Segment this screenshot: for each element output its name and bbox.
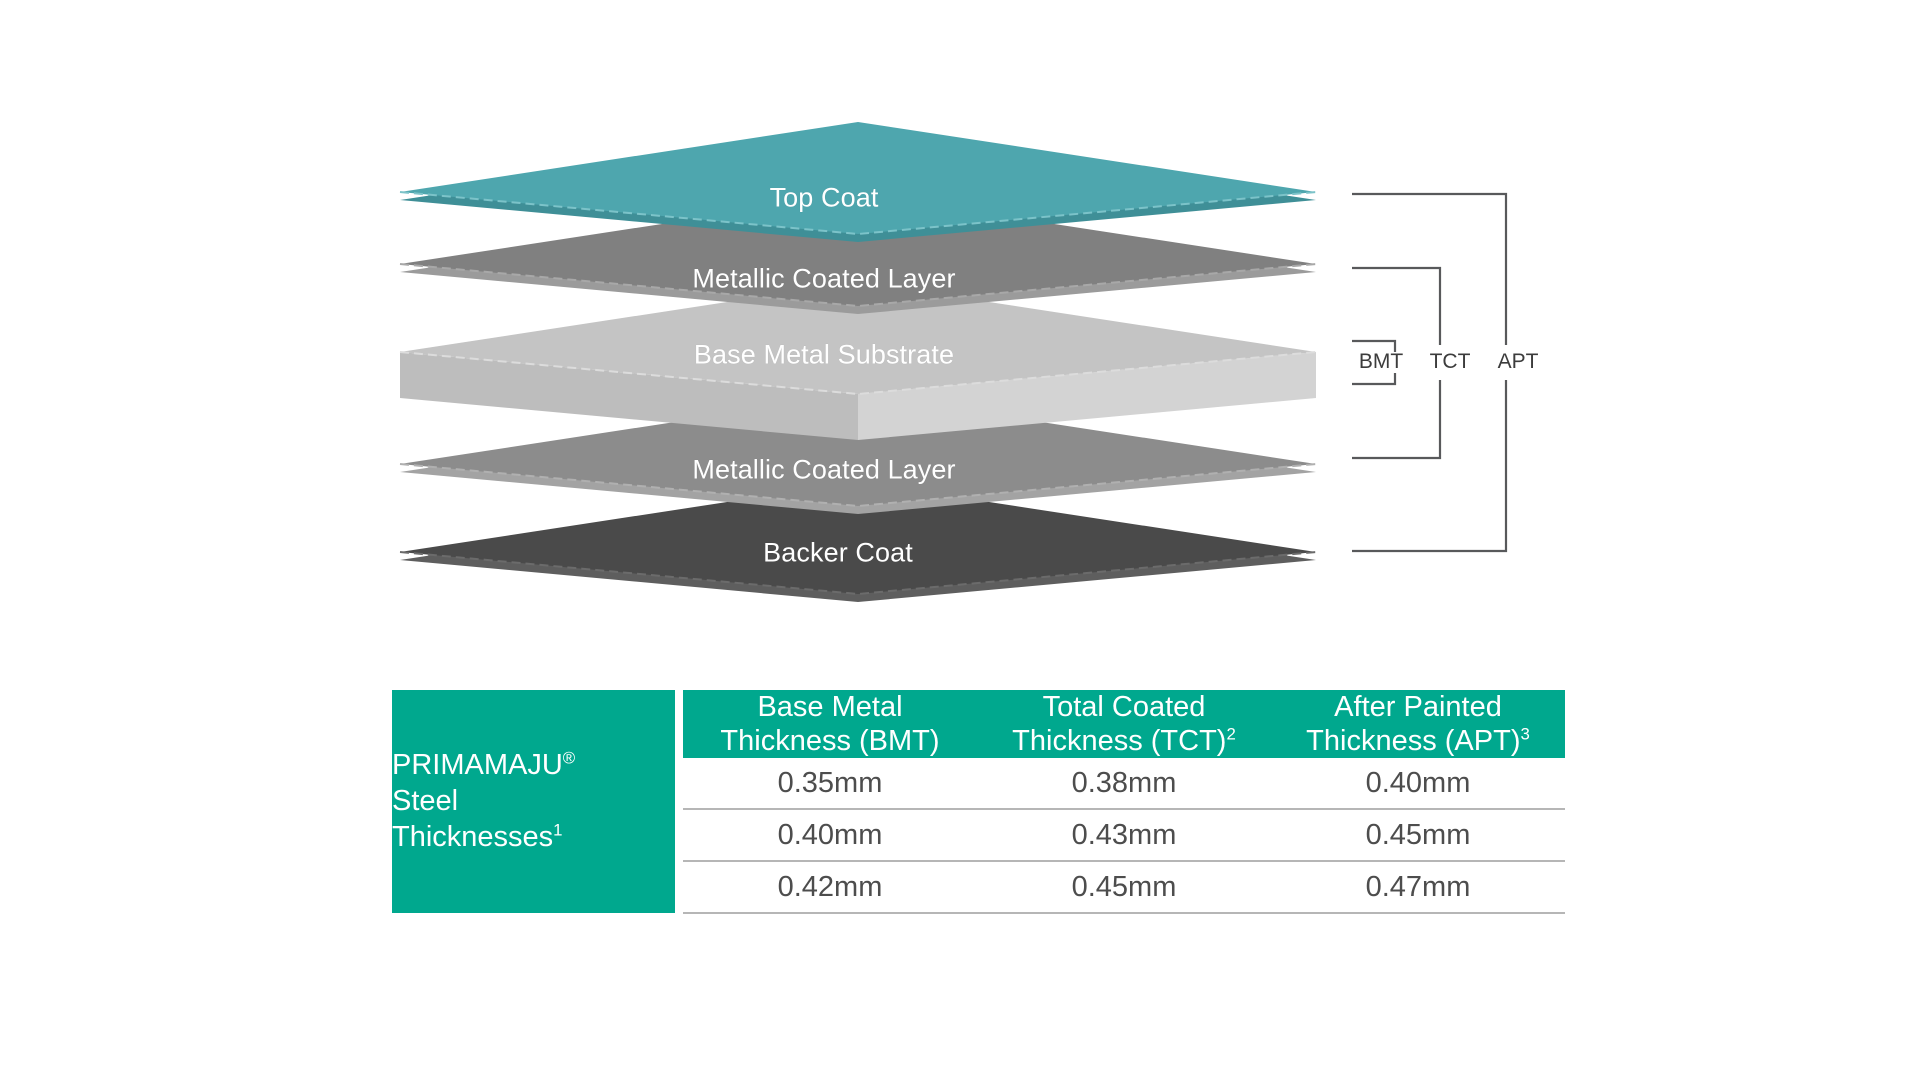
bracket-label-tct: TCT — [1430, 350, 1471, 374]
column-header-apt: After Painted Thickness (APT)3 — [1271, 690, 1565, 758]
cell-apt: 0.47mm — [1271, 861, 1565, 913]
brand-name: PRIMAMAJU — [392, 749, 563, 781]
diagram-page: Top Coat Metallic Coated Layer Base Meta… — [0, 0, 1920, 1080]
column-header-bmt: Base Metal Thickness (BMT) — [683, 690, 977, 758]
table-gutter — [675, 809, 683, 861]
table-gutter — [675, 690, 683, 758]
bracket-label-bmt: BMT — [1359, 350, 1403, 374]
cell-bmt: 0.42mm — [683, 861, 977, 913]
column-header-apt-line2: Thickness (APT) — [1306, 725, 1520, 757]
brand-line2: Steel — [392, 785, 458, 817]
cell-bmt: 0.40mm — [683, 809, 977, 861]
column-header-tct-line1: Total Coated — [1043, 691, 1206, 723]
table-header-row: PRIMAMAJU® Steel Thicknesses1 Base Metal… — [392, 690, 1565, 758]
brand-line3-footnote: 1 — [553, 820, 562, 839]
column-header-tct: Total Coated Thickness (TCT)2 — [977, 690, 1271, 758]
spec-table: PRIMAMAJU® Steel Thicknesses1 Base Metal… — [392, 690, 1565, 914]
cell-tct: 0.45mm — [977, 861, 1271, 913]
table-gutter — [675, 861, 683, 913]
column-header-tct-footnote: 2 — [1226, 725, 1235, 744]
steel-thickness-table: PRIMAMAJU® Steel Thicknesses1 Base Metal… — [392, 690, 1557, 914]
column-header-apt-line1: After Painted — [1334, 691, 1502, 723]
brand-line3: Thicknesses — [392, 821, 553, 853]
cell-apt: 0.45mm — [1271, 809, 1565, 861]
cell-tct: 0.43mm — [977, 809, 1271, 861]
column-header-bmt-line2: Thickness (BMT) — [720, 725, 939, 757]
layer-diagram: Top Coat Metallic Coated Layer Base Meta… — [0, 0, 1920, 640]
table-gutter — [675, 758, 683, 809]
brand-registered-mark: ® — [563, 749, 575, 768]
brand-cell: PRIMAMAJU® Steel Thicknesses1 — [392, 690, 675, 913]
cell-apt: 0.40mm — [1271, 758, 1565, 809]
column-header-apt-footnote: 3 — [1520, 725, 1529, 744]
bracket-label-apt: APT — [1498, 350, 1539, 374]
column-header-tct-line2: Thickness (TCT) — [1012, 725, 1226, 757]
column-header-bmt-line1: Base Metal — [757, 691, 902, 723]
cell-tct: 0.38mm — [977, 758, 1271, 809]
layer-diagram-svg — [0, 0, 1920, 640]
cell-bmt: 0.35mm — [683, 758, 977, 809]
layer-shape-top-coat — [400, 122, 1316, 242]
